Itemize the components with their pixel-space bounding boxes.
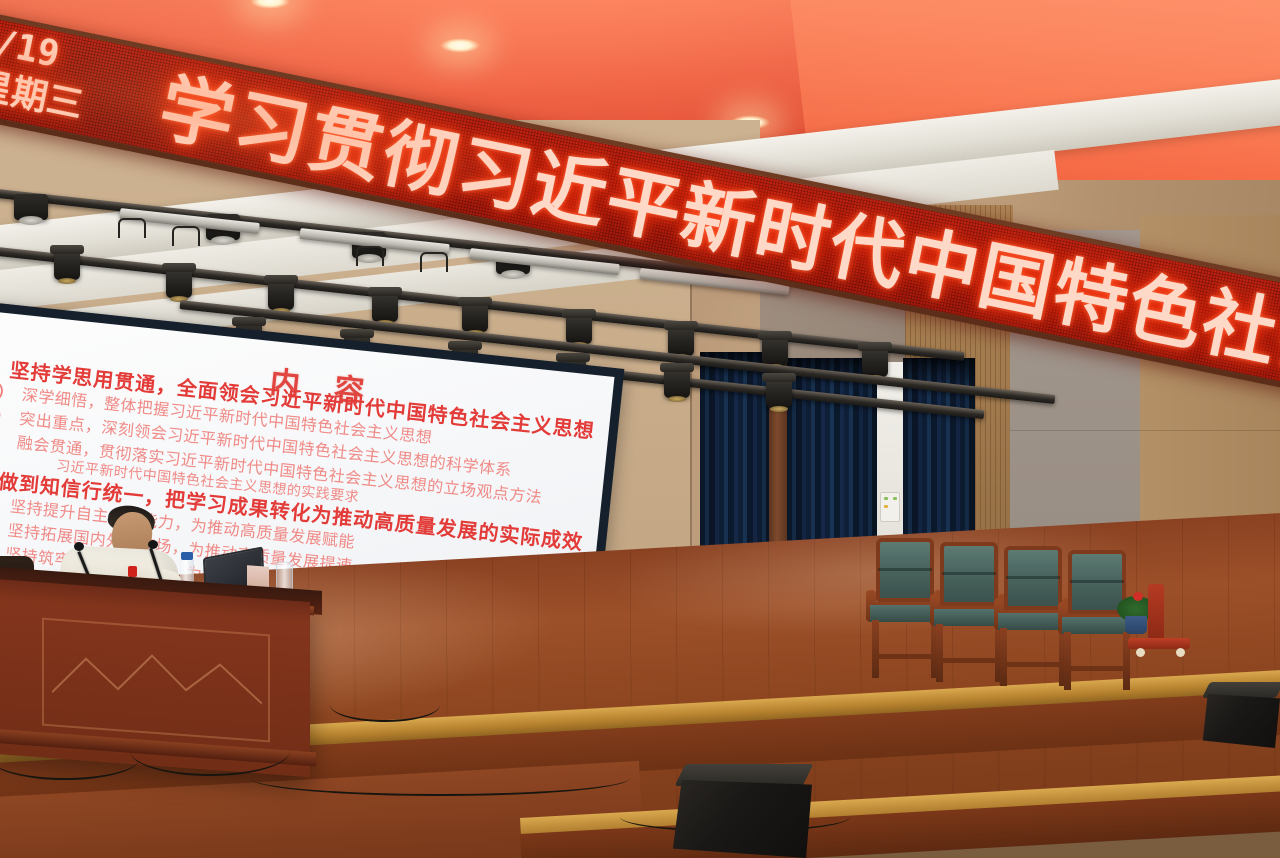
light-cable-bundle (172, 226, 200, 246)
wall-seam (1010, 430, 1280, 431)
chair-stretcher (1000, 662, 1066, 667)
light-cable-bundle (356, 246, 384, 266)
chair-back-seam (1070, 580, 1124, 583)
monitor-front-face (664, 780, 812, 858)
potted-plant-pot (1125, 616, 1147, 634)
trolley-caster (1136, 648, 1145, 657)
slide-bullet-lead: （一） (0, 490, 6, 515)
par-can-light (166, 268, 192, 298)
par-can-light (664, 368, 690, 398)
panel-indicator-led (884, 505, 888, 508)
slide-bullet-lead: （二） (0, 514, 3, 539)
floor-cable (250, 760, 630, 796)
chair-stretcher (1064, 666, 1130, 671)
monitor-front-face (1196, 694, 1280, 748)
potted-plant-flower (1133, 592, 1143, 601)
fresnel-lens (19, 216, 43, 225)
par-can-light (762, 336, 788, 366)
chair-leg (1000, 628, 1007, 686)
chair-stretcher (936, 658, 1002, 663)
slide-bullet-lead: （一） (0, 379, 17, 404)
chair-leg (872, 620, 879, 678)
chair-leg (1064, 632, 1071, 690)
par-can-light (566, 314, 592, 344)
trolley-caster (1176, 648, 1185, 657)
chair-stretcher (872, 654, 938, 659)
fresnel-stage-light (14, 194, 48, 220)
microphone-capsule (148, 540, 158, 549)
par-can-light (668, 326, 694, 356)
chair-leg (936, 624, 943, 682)
slide-bullet-lead: （二） (0, 403, 15, 428)
par-can-light (462, 302, 488, 332)
par-can-light (54, 250, 80, 280)
par-can-light (268, 280, 294, 310)
water-bottle-cap (181, 552, 193, 560)
microphone-capsule (74, 542, 84, 551)
panel-indicator-led (893, 497, 897, 500)
red-trolley[interactable] (1148, 584, 1164, 640)
light-cable-bundle (118, 218, 146, 238)
floor-cable (330, 688, 440, 722)
wall-control-panel[interactable] (880, 492, 900, 522)
chair-back-seam (878, 568, 932, 571)
fresnel-lens (501, 270, 525, 279)
slide-bullet-lead: （三） (0, 426, 12, 451)
conference-hall-photo: 3/07/19 :53 星期三 学习贯彻习近平新时代中国特色社会主义思想主题教育… (0, 0, 1280, 858)
chair-back-seam (942, 572, 996, 575)
light-cable-bundle (420, 252, 448, 272)
party-emblem-badge (128, 566, 137, 577)
panel-indicator-led (884, 497, 888, 500)
chair-back-seam (1006, 576, 1060, 579)
stage-monitor-speaker (664, 764, 812, 858)
par-can-light (862, 347, 888, 377)
stage-monitor-speaker (1196, 682, 1280, 748)
fresnel-lens (211, 236, 235, 245)
floor-cable (130, 726, 290, 776)
par-can-light (766, 378, 792, 408)
par-can-light (372, 292, 398, 322)
ceiling-downlight (440, 38, 480, 53)
